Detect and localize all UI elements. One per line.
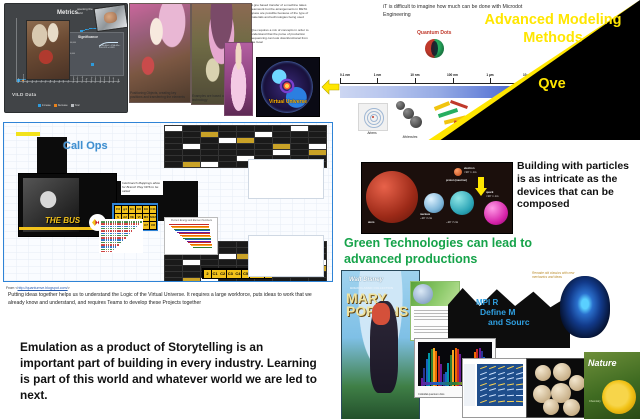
metrics-chart: Metrics opening the field BeginResponseM…: [4, 3, 128, 113]
ruler-tick-label: 1 nm: [374, 73, 381, 77]
vector-arrow: [516, 389, 523, 390]
vector-arrow: [507, 395, 514, 397]
vector-arrow: [480, 371, 487, 374]
mary-poppins-poster: Walt Disney GOLD CLASSIC COLLECTION MARY…: [341, 270, 420, 419]
legend-label: Decrease: [58, 105, 68, 107]
label-bacterium: Bacterium: [485, 126, 521, 130]
boat-graphic: MPI R Define M and Sourc Remake old clas…: [448, 268, 570, 348]
interbranch-note: Interbranch Mappings allow for Branch Pl…: [121, 180, 163, 195]
waffle-dot: [103, 226, 105, 228]
waffle-dot: [124, 237, 126, 239]
waffle-dot: [106, 246, 108, 248]
quantum-dots-label: Quantum Dots: [417, 30, 451, 36]
ruler-tick: [528, 78, 529, 84]
waffle-dot: [136, 223, 138, 225]
sheet-cell: [290, 277, 309, 282]
atom-sphere: [366, 171, 418, 223]
inset-equation: y = 4E+06x^2 - 4.70E+09x + 3.1E+12 R² = …: [99, 45, 123, 49]
proton-sphere: [450, 191, 474, 215]
waffle-dot: [133, 228, 135, 230]
document-circle-inset: [413, 284, 433, 304]
waffle-dot: [110, 226, 112, 228]
waffle-dot: [106, 226, 108, 228]
sheet-cell: [182, 277, 201, 282]
vector-arrow: [498, 394, 505, 396]
waffle-dot: [113, 239, 115, 241]
vector-arrow: [507, 372, 514, 375]
legend-swatch: [54, 104, 57, 107]
label-electron-size: <10⁻¹⁸ cm: [464, 171, 476, 174]
vector-arrow: [480, 399, 487, 402]
x-tick-label: Deploy: [91, 77, 93, 83]
sheet-cell: [218, 161, 237, 168]
scale-gradient-bar: [340, 86, 565, 98]
sheet-cell: [164, 161, 183, 168]
ruler-tick: [340, 78, 341, 84]
legend-label: Total: [75, 105, 80, 107]
waffle-dot: [110, 251, 112, 253]
waffle-dot: [115, 246, 117, 248]
waffle-dot: [110, 249, 112, 251]
vector-arrow: [498, 366, 505, 369]
waffle-dot: [113, 226, 115, 228]
chart-line: [193, 247, 212, 248]
label-proteins: Proteins: [434, 133, 476, 137]
ruler-tick: [490, 78, 491, 84]
label-nucleus: nucleus: [420, 213, 430, 216]
chart-title: Metrics: [57, 10, 78, 16]
legend-swatch: [38, 104, 41, 107]
vector-arrow: [480, 383, 487, 386]
vector-arrow: [498, 400, 505, 402]
x-tick-label: Begin: [18, 78, 20, 83]
green-technologies-headline: Green Technologies can lead to advanced …: [344, 236, 574, 267]
waffle-dot: [106, 223, 108, 225]
waffle-dot: [129, 233, 131, 235]
montage-panel-upper: [248, 159, 324, 199]
energy-chart-title: Percent Energy and Element Numbers: [171, 219, 212, 222]
chart-legend: IncreaseDecreaseTotal: [38, 104, 80, 107]
waffle-dot: [129, 223, 131, 225]
waffle-dot: [103, 249, 105, 251]
waffle-dot: [103, 233, 105, 235]
waffle-dot: [103, 230, 105, 232]
strip-key[interactable]: C1: [212, 270, 219, 278]
vector-arrow: [507, 366, 514, 369]
vector-arrow: [516, 377, 523, 379]
legend-item: Decrease: [54, 104, 68, 107]
waffle-dot: [136, 226, 138, 228]
proteins-icon: [432, 98, 476, 132]
vector-arrow: [516, 372, 523, 375]
atom-structure-diagram: electron <10⁻¹⁸ cm proton (neutron) ~10⁻…: [361, 162, 513, 234]
inset-data-point: [91, 63, 94, 66]
label-atoms: Atoms: [358, 131, 386, 135]
boat-text-3: and Sourc: [488, 317, 530, 327]
left-arrow-icon: [320, 76, 340, 98]
waffle-dot: [140, 221, 142, 223]
vector-arrow: [489, 394, 496, 397]
waffle-dot: [119, 239, 121, 241]
vector-arrow: [489, 400, 496, 403]
building-with-particles-text: Building with particles is as intricate …: [517, 160, 637, 211]
disney-brand: Walt Disney: [349, 277, 383, 283]
cells-icon: [527, 98, 561, 130]
down-arrow-icon: [474, 177, 488, 202]
vector-arrow: [516, 400, 523, 401]
paragraph-gne-transfer: A gne based transfer of a machine takes …: [251, 4, 309, 19]
boat-text-1: MPI R: [476, 298, 498, 307]
waffle-dot: [133, 223, 135, 225]
sheet-cell: [164, 277, 183, 282]
waffle-dot: [113, 230, 115, 232]
vector-arrow: [489, 371, 496, 374]
waffle-dot: [119, 233, 121, 235]
legend-swatch: [71, 104, 74, 107]
ruler-tick-label: 10 nm: [410, 73, 419, 77]
paragraph-qve-concepts: Qve requires a mix of concepts in order …: [251, 29, 309, 44]
slide-canvas: Metrics opening the field BeginResponseM…: [0, 0, 640, 419]
ruler-tick: [565, 78, 566, 84]
waffle-dot: [110, 246, 112, 248]
waffle-dot: [106, 251, 108, 253]
vector-arrow: [507, 377, 514, 380]
waffle-dot: [126, 230, 128, 232]
sheet-cell: [182, 161, 201, 168]
window-sidebar: [464, 364, 475, 406]
x-tick-label: Verify: [86, 78, 88, 83]
scale-ruler: 0.1 nm1 nm10 nm100 nm1 µm10 µm100 µm: [340, 78, 565, 84]
waffle-dot: [106, 249, 108, 251]
waffle-dot: [126, 223, 128, 225]
blue-data-window: [462, 358, 527, 418]
caption-positioning: Positioning Objects, creating key positi…: [130, 91, 188, 99]
source-suffix: >: [68, 286, 70, 290]
atoms-icon: [358, 103, 388, 131]
y-axis: [16, 18, 17, 82]
waffle-dot: [131, 230, 133, 232]
label-nucleus-size: ~10⁻¹² cm: [420, 217, 432, 220]
call-ops-label: Call Ops: [63, 140, 108, 152]
x-tick-label: Render: [77, 76, 79, 83]
legend-item: Total: [71, 104, 80, 107]
waffle-dot: [106, 233, 108, 235]
flower-graphic: [602, 380, 636, 414]
x-tick-label: Result: [113, 77, 115, 83]
waffle-dot: [113, 249, 115, 251]
nature-magazine-cover: Nature Chemistry: [584, 352, 640, 419]
waffle-dot: [122, 239, 124, 241]
vector-arrow: [489, 366, 496, 369]
bacterium-icon: [487, 108, 521, 124]
waffle-dot: [119, 223, 121, 225]
waffle-dot: [113, 233, 115, 235]
waffle-dot: [126, 235, 128, 237]
vector-arrow: [489, 388, 496, 391]
ruler-tick-label: 10 µm: [523, 73, 532, 77]
legend-label: Increase: [42, 105, 51, 107]
vector-arrow: [498, 372, 505, 375]
vector-arrow: [507, 400, 514, 401]
quark-sphere: [484, 201, 508, 225]
nature-title: Nature: [588, 358, 617, 368]
waffle-dot: [133, 226, 135, 228]
waffle-dot: [119, 230, 121, 232]
virtual-universe-label: Virtual Universe: [263, 99, 313, 105]
ruler-tick: [415, 78, 416, 84]
sheet-highlight-cell: [16, 132, 40, 136]
sheet-cell: [200, 161, 219, 168]
bus-title: THE BUS: [45, 216, 80, 225]
vector-arrow: [507, 389, 514, 391]
emulation-statement: Emulation as a product of Storytelling i…: [20, 340, 320, 404]
ruler-tick: [377, 78, 378, 84]
screenshot-montage: Call Ops THE BUS Interbranch Mappings al…: [3, 122, 333, 282]
microdot-headline: iT is difficult to imagine how much can …: [383, 4, 523, 19]
quantum-dot-icon: [425, 39, 444, 58]
waffle-dot: [129, 230, 131, 232]
vector-arrow: [516, 395, 523, 396]
x-tick-label: Response: [23, 74, 25, 83]
key-cell[interactable]: C8: [149, 221, 157, 230]
spectrum-caption: Colloidal quantum dots: [418, 393, 444, 396]
inset-title: Significance: [78, 35, 98, 39]
significance-inset: Significance 10,000,000 5,000,000 0 y = …: [64, 32, 124, 76]
energy-element-chart: Percent Energy and Element Numbers: [164, 217, 218, 255]
waffle-dot: [113, 246, 115, 248]
vector-arrow: [480, 366, 487, 369]
vector-arrow: [489, 383, 496, 386]
waffle-dot: [126, 233, 128, 235]
waffle-dot: [117, 244, 119, 246]
label-electron: electron: [464, 167, 474, 170]
vector-arrow: [480, 388, 487, 391]
nucleus-sphere: [424, 193, 444, 213]
waffle-dot: [110, 230, 112, 232]
waffle-dot: [103, 251, 105, 253]
source-url-link[interactable]: http://quantumve.blogspot.com/: [17, 286, 67, 290]
label-cells: Cells: [529, 132, 559, 136]
waffle-dot: [103, 239, 105, 241]
ruler-tick-label: 100 nm: [447, 73, 458, 77]
sheet-cell: [308, 277, 327, 282]
ruler-tick-label: 100 µm: [560, 73, 565, 81]
waffle-dot: [110, 233, 112, 235]
waffle-dot: [110, 223, 112, 225]
x-tick-label: Archive: [104, 76, 106, 83]
molecules-icon: [395, 100, 425, 130]
down-arrow-svg: [474, 177, 488, 197]
legend-item: Increase: [38, 104, 51, 107]
vector-arrow: [516, 383, 523, 385]
ruler-tick-label: 0.1 nm: [340, 73, 350, 77]
vector-arrow: [498, 383, 505, 386]
vector-arrow: [507, 383, 514, 385]
waffle-dot: [119, 226, 121, 228]
x-tick-label: Transfer: [82, 76, 84, 83]
vector-arrow: [480, 394, 487, 397]
label-atom: atom: [368, 221, 374, 224]
source-prefix: From <: [6, 286, 17, 290]
waffle-dot: [129, 226, 131, 228]
waffle-dot: [103, 246, 105, 248]
vector-arrow: [489, 377, 496, 380]
vector-arrow: [516, 366, 523, 369]
boat-text-2: Define M: [480, 307, 515, 317]
label-proton-size: ~10⁻¹³ cm: [446, 221, 458, 224]
sheet-cell: [272, 277, 291, 282]
waffle-dot: [106, 239, 108, 241]
window-plot: [477, 364, 523, 406]
strip-key[interactable]: C4: [234, 270, 241, 278]
virtual-universe-panel: Virtual Universe: [256, 57, 320, 117]
strip-key[interactable]: C2: [219, 270, 226, 278]
waffle-dot-chart: [99, 219, 143, 253]
nature-subtitle: Chemistry: [589, 400, 601, 403]
left-arrow-svg: [320, 76, 340, 98]
photo-positioning-objects: [129, 3, 191, 103]
strip-key[interactable]: C3: [227, 270, 234, 278]
x-tick-label: Extend: [100, 77, 102, 83]
photo-ornate-figure: [26, 20, 70, 80]
x-tick-label: Review: [109, 76, 111, 83]
spark-orb-graphic: [560, 276, 610, 338]
waffle-dot: [113, 223, 115, 225]
vector-arrow: [498, 377, 505, 380]
montage-panel-lower: [248, 235, 324, 277]
label-molecules: Molecules: [392, 135, 428, 139]
shells-photo: [526, 358, 590, 418]
electron-sphere: [454, 168, 462, 176]
x-tick-label: Sustain: [95, 76, 97, 83]
source-line: From <http://quantumve.blogspot.com/>: [6, 286, 70, 290]
waffle-dot: [138, 223, 140, 225]
label-proton: proton (neutron): [446, 179, 467, 182]
vild-data-label: VILD Data: [12, 92, 36, 97]
ruler-tick-label: 1 µm: [486, 73, 493, 77]
waffle-dot: [119, 242, 121, 244]
waffle-dot: [103, 223, 105, 225]
photo-pink-figure: [224, 42, 253, 116]
vector-arrow: [480, 377, 487, 380]
x-tick-label: Total: [118, 79, 120, 83]
ruler-tick: [453, 78, 454, 84]
waffle-dot: [110, 239, 112, 241]
waffle-dot: [106, 230, 108, 232]
strip-key[interactable]: 2: [204, 270, 211, 278]
character-scarf: [372, 303, 390, 325]
waffle-dot: [126, 226, 128, 228]
photo-machine-opening: [93, 4, 128, 32]
lead-paragraph: Putting ideas together helps us to under…: [8, 292, 323, 308]
globe-icon: [261, 61, 313, 113]
vector-arrow: [498, 389, 505, 391]
